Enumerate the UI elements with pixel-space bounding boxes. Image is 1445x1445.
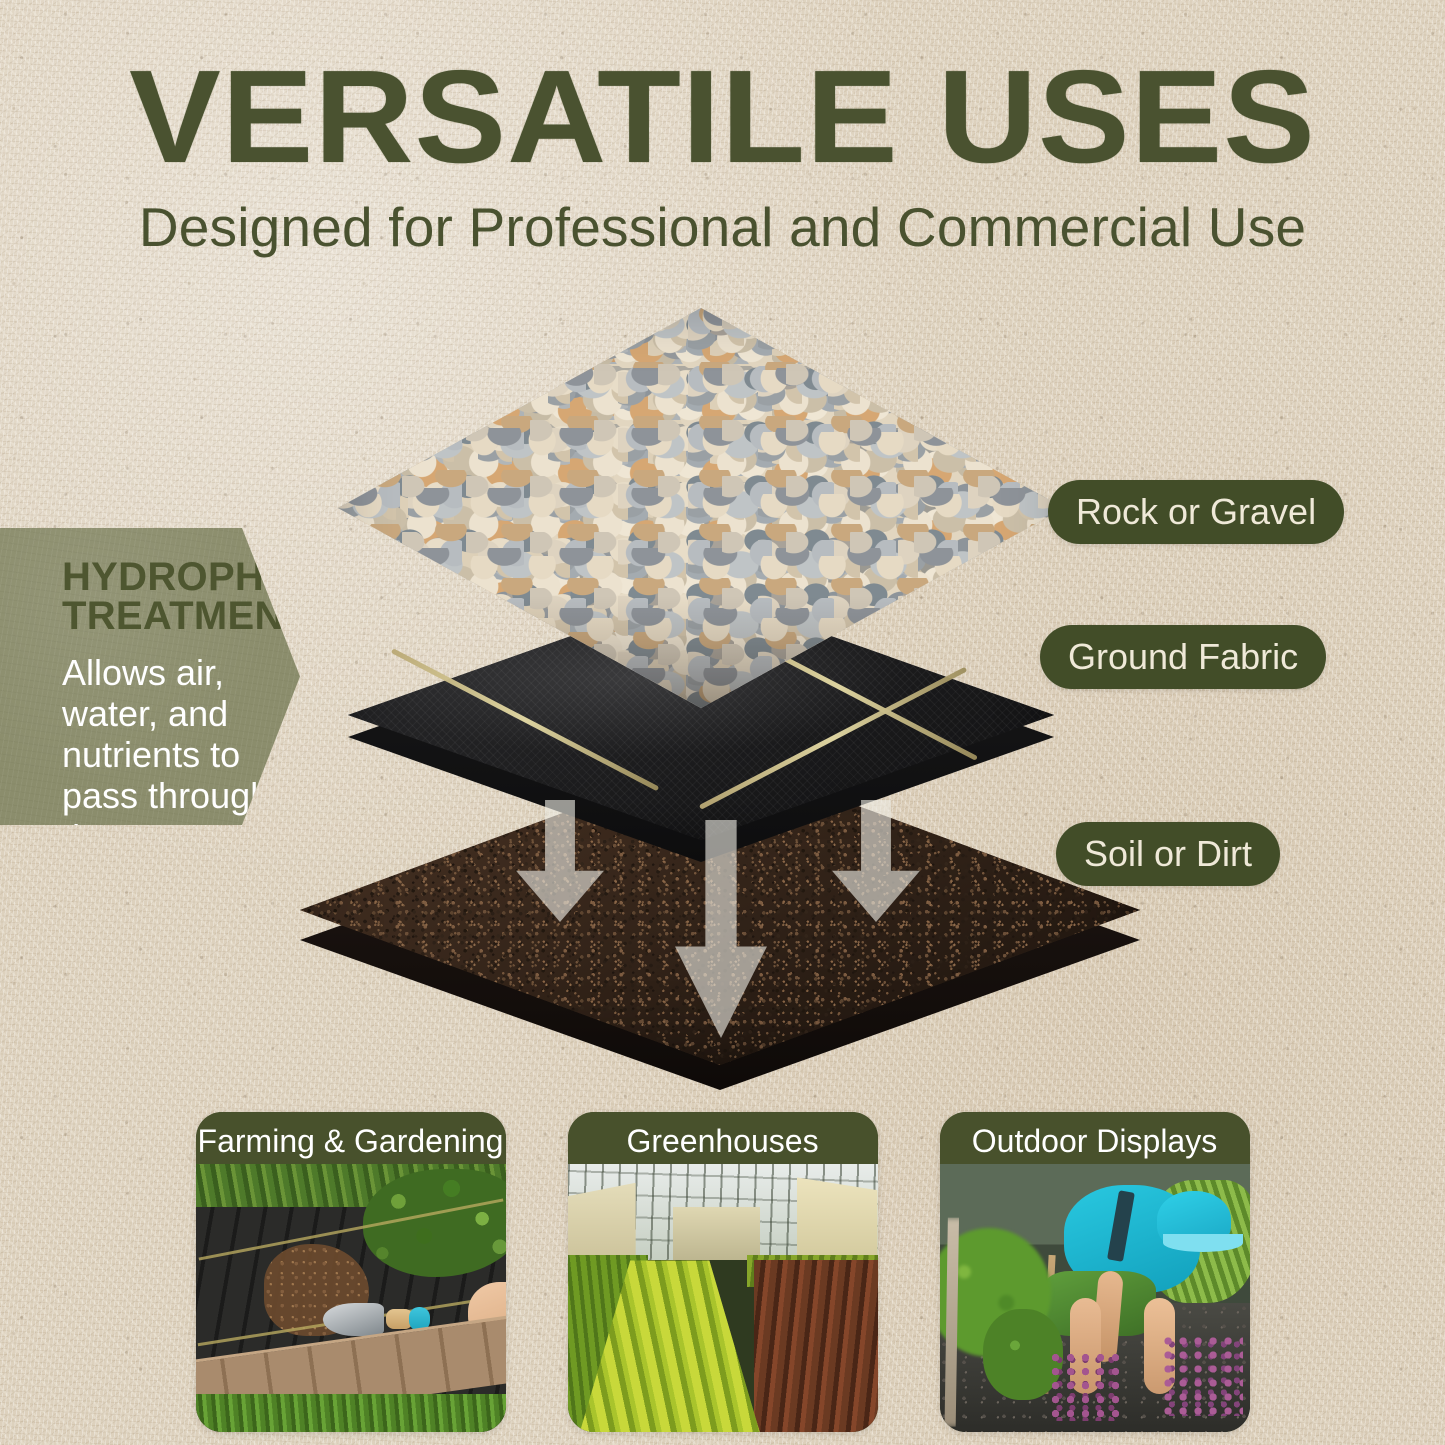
lawn-strip (196, 1394, 506, 1432)
outdoor-display-photo-illustration (940, 1164, 1250, 1432)
use-case-cards: Farming & Gardening Greenhouses (0, 1112, 1445, 1432)
page-subtitle: Designed for Professional and Commercial… (0, 195, 1445, 259)
card-photo-farming (196, 1164, 506, 1432)
page-title-text: VERSATILE USES (129, 43, 1316, 190)
card-title-greenhouses: Greenhouses (568, 1112, 878, 1170)
use-case-card-greenhouses: Greenhouses (568, 1112, 878, 1432)
greenhouse-end-door (673, 1207, 760, 1261)
farming-photo-illustration (196, 1164, 506, 1432)
trowel-blade (323, 1303, 384, 1335)
card-photo-greenhouses (568, 1164, 878, 1432)
purple-flowering-plant-right (1163, 1336, 1244, 1416)
gravel-surface-texture (338, 308, 1064, 708)
greenhouse-right-bed (754, 1260, 878, 1432)
card-photo-outdoor-displays (940, 1164, 1250, 1432)
page-title: VERSATILE USES (0, 52, 1445, 181)
hydrophilic-treatment-panel: HYDROPHILIC TREATMENT Allows air, water,… (0, 528, 300, 825)
label-ground-fabric: Ground Fabric (1040, 625, 1326, 689)
label-soil-or-dirt: Soil or Dirt (1056, 822, 1280, 886)
card-title-outdoor-displays: Outdoor Displays (940, 1112, 1250, 1170)
use-case-card-outdoor-displays: Outdoor Displays (940, 1112, 1250, 1432)
use-case-card-farming: Farming & Gardening (196, 1112, 506, 1432)
info-panel-title-line2: TREATMENT (62, 597, 300, 636)
header: VERSATILE USES Designed for Professional… (0, 52, 1445, 259)
purple-flowering-plant-left (1051, 1352, 1119, 1422)
rock-gravel-layer (338, 308, 1064, 708)
card-title-farming: Farming & Gardening (196, 1112, 506, 1170)
greenhouse-photo-illustration (568, 1164, 878, 1432)
label-rock-or-gravel: Rock or Gravel (1048, 480, 1344, 544)
greenhouse-right-wall (797, 1177, 878, 1257)
